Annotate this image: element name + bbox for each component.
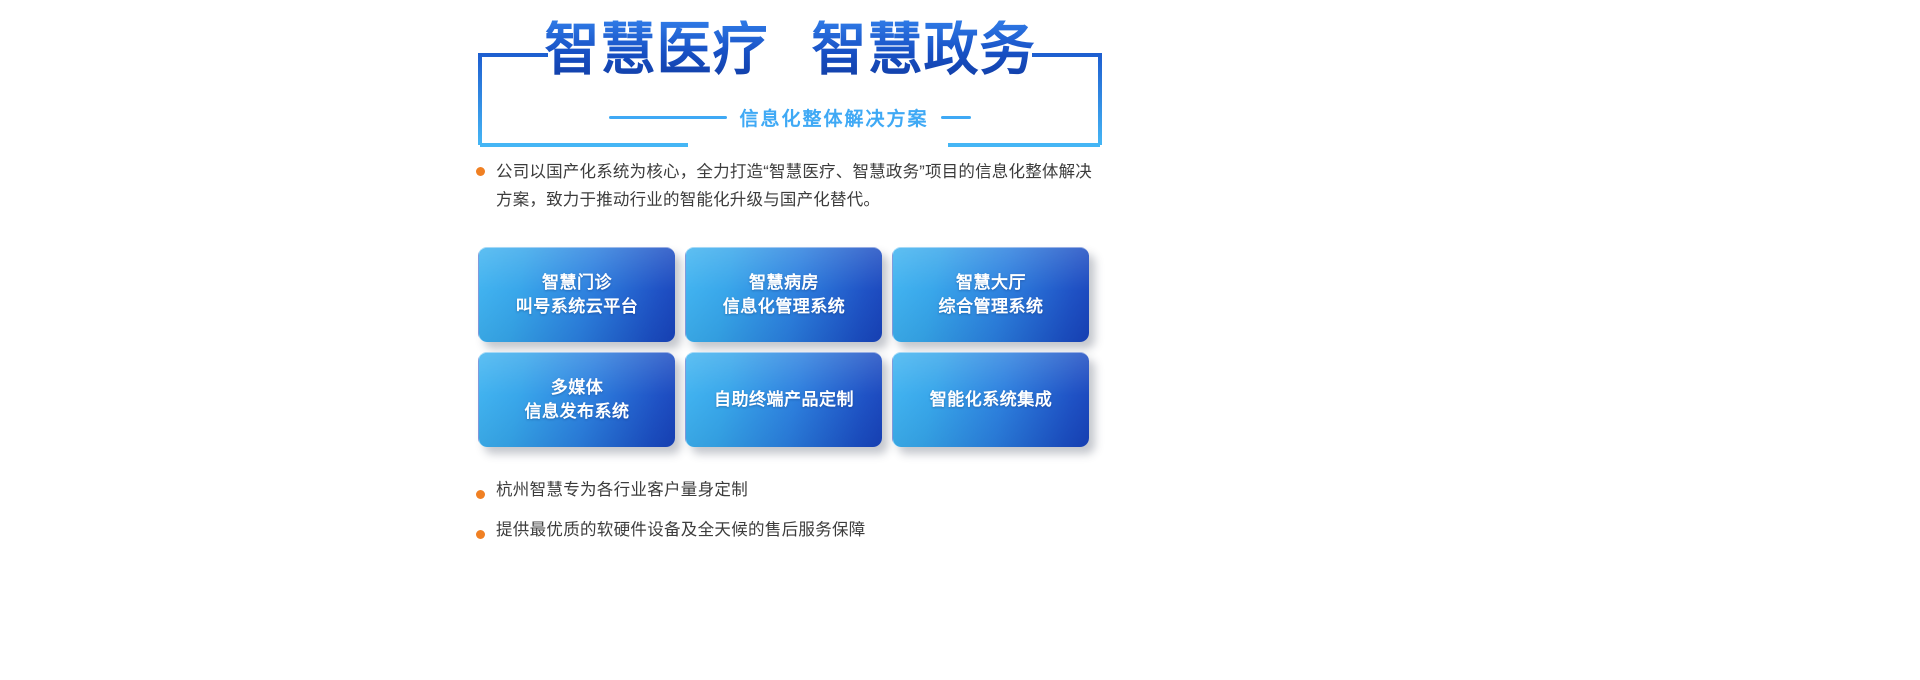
footer-bullet-text: 提供最优质的软硬件设备及全天候的售后服务保障 (496, 518, 866, 542)
solution-card[interactable]: 智能化系统集成 (892, 352, 1089, 447)
title-right-text: 智慧政务 (811, 20, 1035, 78)
solution-card-label: 智能化系统集成 (930, 388, 1053, 412)
solution-card-label: 智慧门诊 叫号系统云平台 (516, 271, 639, 319)
list-item: 提供最优质的软硬件设备及全天候的售后服务保障 (476, 510, 1096, 550)
solution-card-grid: 智慧门诊 叫号系统云平台 智慧病房 信息化管理系统 智慧大厅 综合管理系统 多媒… (478, 247, 1092, 447)
page-canvas: 智慧医疗 智慧政务 信息化整体解决方案 公司以国产化系统为核心，全力打造“智慧医… (0, 0, 1920, 680)
solution-card[interactable]: 智慧大厅 综合管理系统 (892, 247, 1089, 342)
solution-card-label: 智慧大厅 综合管理系统 (939, 271, 1044, 319)
solution-card-label: 智慧病房 信息化管理系统 (723, 271, 846, 319)
solution-card[interactable]: 自助终端产品定制 (685, 352, 882, 447)
solution-card-label: 多媒体 信息发布系统 (525, 376, 630, 424)
list-item: 杭州智慧专为各行业客户量身定制 (476, 470, 1096, 510)
lead-paragraph-text: 公司以国产化系统为核心，全力打造“智慧医疗、智慧政务”项目的信息化整体解决方案，… (496, 158, 1092, 214)
bullet-dot-icon (476, 490, 485, 499)
solution-card[interactable]: 多媒体 信息发布系统 (478, 352, 675, 447)
subtitle-text: 信息化整体解决方案 (739, 104, 928, 131)
title-left-text: 智慧医疗 (545, 20, 769, 78)
solution-card-label: 自助终端产品定制 (714, 388, 854, 412)
title-block: 智慧医疗 智慧政务 信息化整体解决方案 (470, 22, 1110, 140)
main-title: 智慧医疗 智慧政务 (470, 22, 1110, 77)
bullet-dot-icon (476, 167, 485, 176)
subtitle-rule-left-icon (609, 116, 727, 119)
solution-card[interactable]: 智慧门诊 叫号系统云平台 (478, 247, 675, 342)
footer-bullet-text: 杭州智慧专为各行业客户量身定制 (496, 478, 748, 502)
solution-card[interactable]: 智慧病房 信息化管理系统 (685, 247, 882, 342)
subtitle-row: 信息化整体解决方案 (470, 104, 1110, 131)
lead-paragraph: 公司以国产化系统为核心，全力打造“智慧医疗、智慧政务”项目的信息化整体解决方案，… (476, 158, 1092, 214)
content-column: 智慧医疗 智慧政务 信息化整体解决方案 公司以国产化系统为核心，全力打造“智慧医… (470, 0, 1110, 680)
footer-bullet-list: 杭州智慧专为各行业客户量身定制 提供最优质的软硬件设备及全天候的售后服务保障 (476, 470, 1096, 550)
bullet-dot-icon (476, 530, 485, 539)
subtitle-rule-right-icon (941, 116, 971, 119)
